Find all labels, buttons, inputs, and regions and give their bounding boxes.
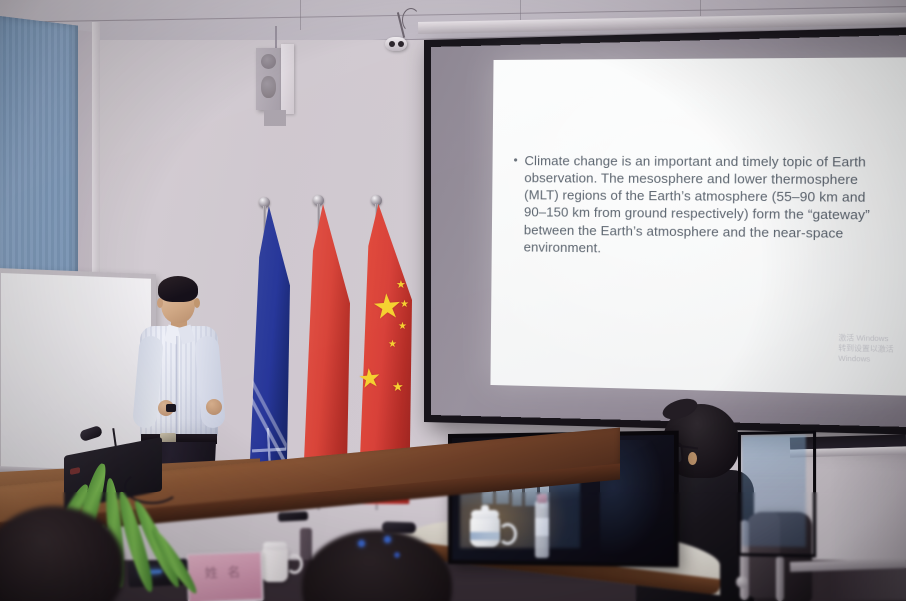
hair-clip [384, 536, 391, 543]
secondary-display-bezel [738, 431, 816, 558]
water-bottle-label [535, 518, 549, 536]
flag-star-icon: ★ [357, 364, 383, 392]
speaker-woofer-icon [261, 76, 276, 98]
camera-ir-led-icon [398, 41, 404, 47]
microphone-cable [124, 470, 180, 504]
office-chair-frame [776, 556, 784, 601]
ceiling-tile-seam [520, 0, 521, 22]
windows-activation-watermark: 激活 Windows 转到设置以激活 Windows [838, 333, 906, 366]
flag-star-icon: ★ [396, 280, 406, 291]
speaker-tweeter-icon [261, 54, 276, 69]
slide-body-text: Climate change is an important and timel… [524, 153, 870, 255]
mug-lid[interactable] [263, 542, 287, 550]
flag-star-icon: ★ [388, 340, 397, 350]
mug-lid-knob[interactable] [481, 505, 489, 512]
slide-bullet-paragraph: • Climate change is an important and tim… [524, 152, 890, 260]
mug-handle[interactable] [498, 523, 517, 545]
flag-star-icon: ★ [371, 289, 404, 325]
office-chair-adjust-knob[interactable] [736, 576, 748, 588]
speaker-side-panel [281, 44, 294, 114]
presentation-clicker[interactable] [166, 404, 176, 412]
speaker-bracket [264, 110, 286, 126]
hair-clip [394, 552, 400, 558]
lidded-mug[interactable] [262, 548, 288, 582]
presenter-shirt-placket [176, 336, 180, 436]
flag-star-icon: ★ [392, 380, 404, 393]
camera-lens-icon [389, 41, 395, 47]
presenter-ear [157, 298, 163, 308]
flag-star-icon: ★ [400, 300, 409, 310]
presenter-right-hand [206, 399, 222, 415]
hair-clip [358, 540, 365, 547]
bullet-point-icon: • [513, 153, 517, 169]
projected-slide: • Climate change is an important and tim… [490, 57, 906, 396]
remote-control[interactable] [278, 511, 308, 522]
ceiling-tile-seam [300, 0, 301, 30]
mug-handle[interactable] [286, 554, 303, 574]
flag-star-icon: ★ [398, 322, 407, 332]
nameplate-text: 姓 名 [195, 561, 254, 582]
presenter-ear [194, 298, 200, 308]
water-bottle-cap[interactable] [537, 494, 547, 503]
seated-man-ear [688, 452, 697, 465]
window-blind-texture [0, 16, 78, 294]
speaker-mount-stem [275, 26, 277, 50]
ceiling-tile-seam [700, 0, 701, 16]
conference-room-photo: • Climate change is an important and tim… [0, 0, 906, 601]
mug-decoration-band [470, 532, 500, 540]
watermark-line-2: 转到设置以激活 Windows [838, 343, 906, 365]
presenter-hair [158, 276, 198, 302]
